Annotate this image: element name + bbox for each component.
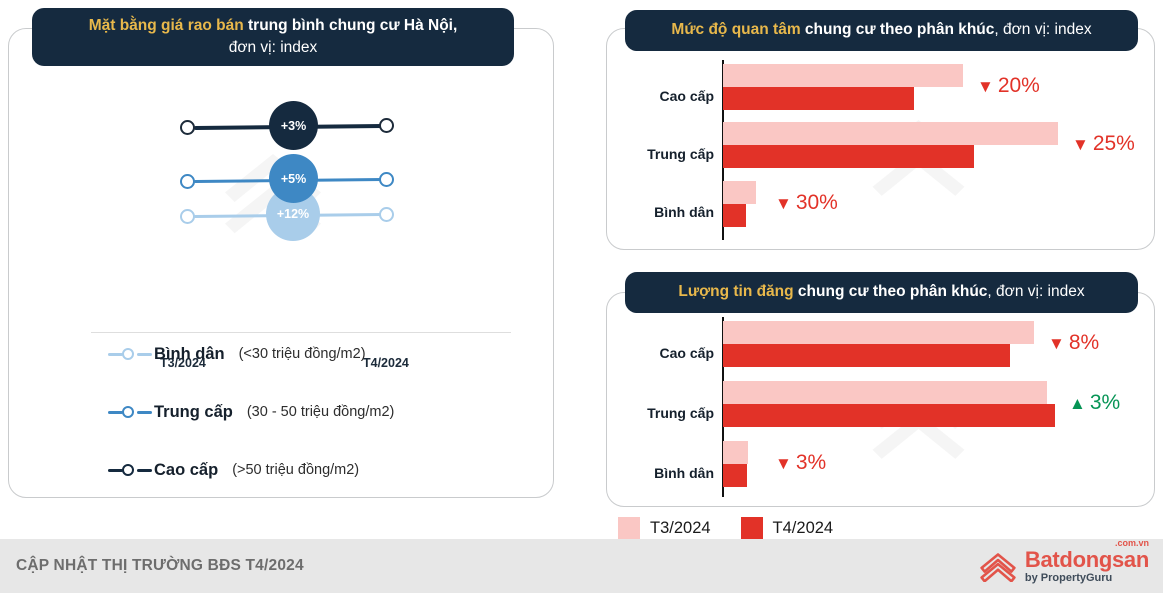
ribbon-left-highlight: Mặt bằng giá rao bán	[89, 17, 244, 34]
title-ribbon-interest: Mức độ quan tâm chung cư theo phân khúc,…	[625, 10, 1138, 51]
brand-tagline: by PropertyGuru	[1025, 573, 1149, 584]
legend-item-binh-dan: Bình dân (<30 triệu đồng/m2)	[108, 325, 528, 383]
bar-listings-cao-cap-t3	[723, 321, 1034, 344]
triangle-down-icon: ▼	[775, 455, 792, 472]
bar-listings-binh-dan-t4	[723, 464, 747, 487]
legend-note-cao-cap: (>50 triệu đồng/m2)	[232, 462, 359, 478]
ribbon-top-tail: , đơn vị: index	[994, 21, 1091, 38]
bar-binh-dan-t3	[723, 181, 756, 204]
dumbbell-chart-average-price: +12% +5% +3% T3/2024 T4/2024	[8, 70, 554, 310]
legend-marker-binh-dan	[108, 347, 152, 361]
triangle-down-icon: ▼	[977, 78, 994, 95]
bar-delta-binh-dan-text: 30%	[796, 191, 838, 215]
series-swatch-t4	[741, 517, 763, 539]
bar-delta-listings-cao-cap: ▼ 8%	[1048, 331, 1099, 355]
bar-category-label-cao-cap: Cao cấp	[606, 345, 714, 361]
legend-label-cao-cap: Cao cấp	[154, 461, 218, 480]
bar-category-label-cao-cap: Cao cấp	[606, 88, 714, 104]
bar-delta-binh-dan: ▼ 30%	[775, 191, 838, 215]
series-legend-item-t4: T4/2024	[741, 517, 834, 539]
bar-delta-listings-trung-cap-text: 3%	[1090, 391, 1120, 415]
series-legend-label-t4: T4/2024	[773, 519, 834, 538]
bar-cao-cap-t4	[723, 87, 914, 110]
triangle-up-icon: ▲	[1069, 395, 1086, 412]
ribbon-bottom-tail: , đơn vị: index	[987, 283, 1084, 300]
bar-chart-interest: Cao cấp ▼ 20% Trung cấp ▼ 25% Bình dân ▼…	[606, 52, 1155, 248]
brand-logo: Batdongsan .com.vn by PropertyGuru	[979, 549, 1149, 584]
bar-delta-listings-binh-dan-text: 3%	[796, 451, 826, 475]
bar-listings-trung-cap-t3	[723, 381, 1047, 404]
bar-category-label-binh-dan: Bình dân	[606, 465, 714, 481]
triangle-down-icon: ▼	[1048, 335, 1065, 352]
bar-binh-dan-t4	[723, 204, 746, 227]
ribbon-top-bold: chung cư theo phân khúc	[801, 21, 995, 38]
bar-chart-listings: Cao cấp ▼ 8% Trung cấp ▲ 3% Bình dân ▼ 3…	[606, 315, 1155, 507]
legend-note-binh-dan: (<30 triệu đồng/m2)	[239, 346, 366, 362]
series-legend-label-t3: T3/2024	[650, 519, 711, 538]
bar-listings-cao-cap-t4	[723, 344, 1010, 367]
legend-label-binh-dan: Bình dân	[154, 345, 225, 364]
bar-category-label-trung-cap: Trung cấp	[606, 146, 714, 162]
dumbbell-value-cao-cap: +3%	[281, 119, 306, 133]
legend-marker-cao-cap	[108, 463, 152, 477]
ribbon-bottom-bold: chung cư theo phân khúc	[794, 283, 988, 300]
series-swatch-t3	[618, 517, 640, 539]
ribbon-top-highlight: Mức độ quan tâm	[671, 21, 800, 38]
footer-title: CẬP NHẬT THỊ TRƯỜNG BĐS T4/2024	[16, 557, 304, 575]
brand-name: Batdongsan	[1025, 549, 1149, 571]
bar-delta-listings-binh-dan: ▼ 3%	[775, 451, 826, 475]
bar-cao-cap-t3	[723, 64, 963, 87]
dumbbell-bubble-cao-cap: +3%	[269, 101, 318, 150]
legend-label-trung-cap: Trung cấp	[154, 403, 233, 422]
bar-delta-listings-trung-cap: ▲ 3%	[1069, 391, 1120, 415]
ribbon-left-bold: trung bình chung cư Hà Nội,	[244, 17, 458, 34]
footer-bar: CẬP NHẬT THỊ TRƯỜNG BĐS T4/2024 Batdongs…	[0, 539, 1163, 593]
dumbbell-dot-cao-cap-end	[379, 118, 394, 133]
series-legend-item-t3: T3/2024	[618, 517, 711, 539]
infographic-root: Mặt bằng giá rao bán trung bình chung cư…	[0, 0, 1163, 593]
bar-trung-cap-t4	[723, 145, 974, 168]
bar-delta-trung-cap-text: 25%	[1093, 132, 1135, 156]
triangle-down-icon: ▼	[1072, 136, 1089, 153]
bar-listings-binh-dan-t3	[723, 441, 748, 464]
price-tier-legend: Bình dân (<30 triệu đồng/m2) Trung cấp (…	[108, 325, 528, 499]
triangle-down-icon: ▼	[775, 195, 792, 212]
bar-delta-listings-cao-cap-text: 8%	[1069, 331, 1099, 355]
ribbon-bottom-highlight: Lượng tin đăng	[678, 283, 793, 300]
house-chevron-icon	[979, 550, 1017, 582]
bar-category-label-binh-dan: Bình dân	[606, 204, 714, 220]
legend-marker-trung-cap	[108, 405, 152, 419]
dumbbell-row-cao-cap: +3%	[8, 70, 554, 310]
title-ribbon-average-price: Mặt bằng giá rao bán trung bình chung cư…	[32, 8, 514, 66]
title-ribbon-listings: Lượng tin đăng chung cư theo phân khúc, …	[625, 272, 1138, 313]
ribbon-left-line2: đơn vị: index	[229, 39, 318, 56]
bar-listings-trung-cap-t4	[723, 404, 1055, 427]
legend-item-trung-cap: Trung cấp (30 - 50 triệu đồng/m2)	[108, 383, 528, 441]
series-legend: T3/2024 T4/2024	[618, 517, 833, 539]
legend-item-cao-cap: Cao cấp (>50 triệu đồng/m2)	[108, 441, 528, 499]
dumbbell-dot-cao-cap-start	[180, 120, 195, 135]
brand-tld: .com.vn	[1115, 539, 1149, 548]
bar-delta-cao-cap-text: 20%	[998, 74, 1040, 98]
bar-trung-cap-t3	[723, 122, 1058, 145]
bar-delta-trung-cap: ▼ 25%	[1072, 132, 1135, 156]
bar-delta-cao-cap: ▼ 20%	[977, 74, 1040, 98]
bar-category-label-trung-cap: Trung cấp	[606, 405, 714, 421]
brand-text: Batdongsan .com.vn by PropertyGuru	[1025, 549, 1149, 584]
legend-note-trung-cap: (30 - 50 triệu đồng/m2)	[247, 404, 395, 420]
